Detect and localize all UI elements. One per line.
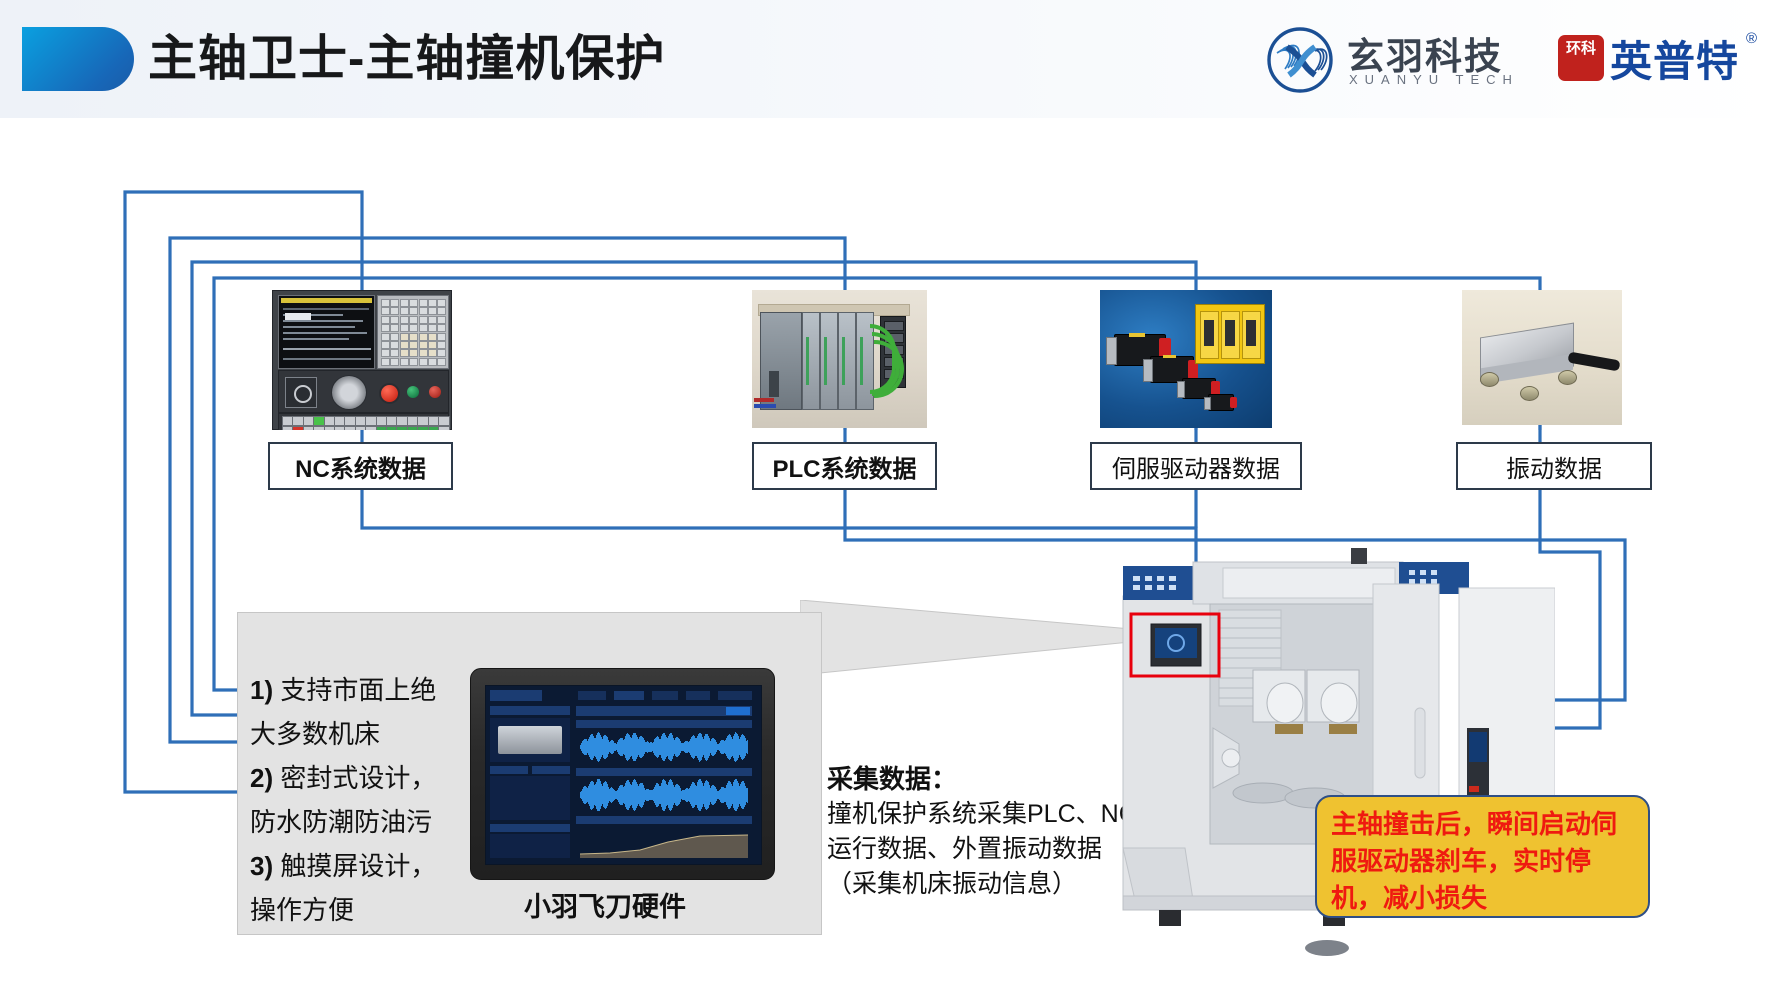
touchscreen-dashboard-screen <box>485 685 762 865</box>
collect-data-block: 采集数据： 撞机保护系统采集PLC、NC运行数据、外置振动数据（采集机床振动信息… <box>827 762 1147 902</box>
hardware-feature-list: 1) 支持市面上绝大多数机床 2) 密封式设计，防水防潮防油污 3) 触摸屏设计… <box>250 668 450 932</box>
logo-inputek-seal: 环科 <box>1558 35 1604 81</box>
device-image-vibration-sensor <box>1462 290 1622 425</box>
logo-inputek-name: 英普特 <box>1610 28 1739 89</box>
xuanyu-circle-emblem-icon <box>1265 25 1335 95</box>
header-accent-shape <box>22 27 134 91</box>
logo-xuanyu-tech: 玄羽科技 XUANYU TECH <box>1265 22 1530 98</box>
bullet-number: 1) <box>250 675 273 705</box>
device-image-plc-rack <box>752 290 927 428</box>
label-servo-data: 伺服驱动器数据 <box>1090 442 1302 490</box>
hardware-device-name: 小羽飞刀硬件 <box>470 885 740 924</box>
device-image-servo-drive <box>1100 290 1272 428</box>
registered-mark-icon: ® <box>1746 30 1757 47</box>
collect-data-title: 采集数据： <box>827 762 1147 797</box>
warning-callout: 主轴撞击后，瞬间启动伺服驱动器刹车，实时停机，减小损失 <box>1315 795 1650 918</box>
page-header: 主轴卫士-主轴撞机保护 玄羽科技 XUANYU TECH 环科 英普特 ® <box>0 0 1778 118</box>
touchscreen-device <box>470 668 775 880</box>
bullet-number: 2) <box>250 763 273 793</box>
list-item: 2) 密封式设计，防水防潮防油污 <box>250 756 450 844</box>
list-item: 1) 支持市面上绝大多数机床 <box>250 668 450 756</box>
label-nc-data: NC系统数据 <box>268 442 453 490</box>
collect-data-body: 撞机保护系统采集PLC、NC运行数据、外置振动数据（采集机床振动信息） <box>827 800 1137 898</box>
bullet-number: 3) <box>250 851 273 881</box>
bullet-text: 触摸屏设计，操作方便 <box>250 851 436 925</box>
logo-xuanyu-subtitle: XUANYU TECH <box>1349 72 1519 87</box>
device-image-nc-panel <box>272 290 452 430</box>
label-plc-data: PLC系统数据 <box>752 442 937 490</box>
logo-inputek: 环科 英普特 ® <box>1558 26 1758 92</box>
page-title: 主轴卫士-主轴撞机保护 <box>148 28 665 90</box>
bullet-text: 密封式设计，防水防潮防油污 <box>250 763 436 837</box>
label-vibration-data: 振动数据 <box>1456 442 1652 490</box>
bullet-text: 支持市面上绝大多数机床 <box>250 675 436 749</box>
list-item: 3) 触摸屏设计，操作方便 <box>250 844 450 932</box>
